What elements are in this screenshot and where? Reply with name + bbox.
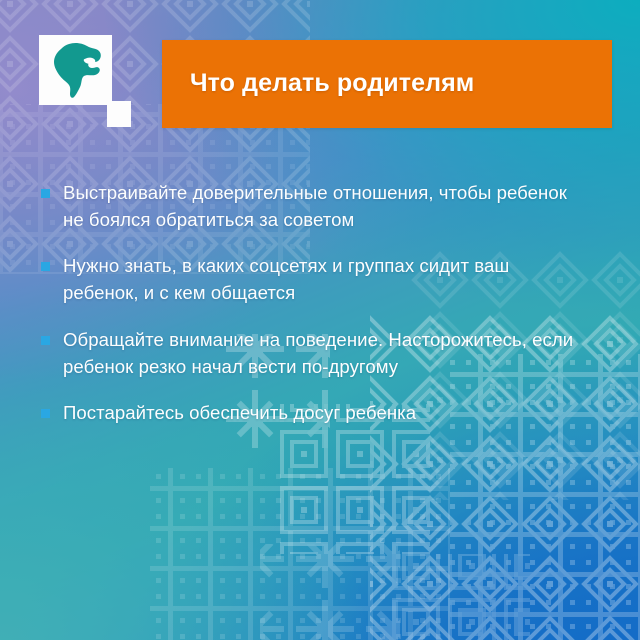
bullet-square-icon	[41, 262, 50, 271]
poster-canvas: Что делать родителям Выстраивайте довери…	[0, 0, 640, 640]
region-outline-shape-icon	[49, 42, 105, 99]
list-item-text: Обращайте внимание на поведение. Насторо…	[63, 326, 583, 380]
bullet-square-icon	[41, 409, 50, 418]
bullet-square-icon	[41, 336, 50, 345]
list-item-text: Нужно знать, в каких соцсетях и группах …	[63, 252, 583, 306]
bullet-square-icon	[41, 189, 50, 198]
list-item: Выстраивайте доверительные отношения, чт…	[41, 179, 597, 233]
list-item: Обращайте внимание на поведение. Насторо…	[41, 326, 597, 380]
advice-list: Выстраивайте доверительные отношения, чт…	[41, 179, 597, 445]
logo-accent-square	[107, 101, 131, 127]
list-item: Нужно знать, в каких соцсетях и группах …	[41, 252, 597, 306]
page-title: Что делать родителям	[162, 70, 474, 98]
title-banner: Что делать родителям	[162, 40, 612, 128]
list-item-text: Выстраивайте доверительные отношения, чт…	[63, 179, 583, 233]
list-item-text: Постарайтесь обеспечить досуг ребенка	[63, 399, 416, 426]
list-item: Постарайтесь обеспечить досуг ребенка	[41, 399, 597, 426]
logo[interactable]	[39, 35, 131, 127]
